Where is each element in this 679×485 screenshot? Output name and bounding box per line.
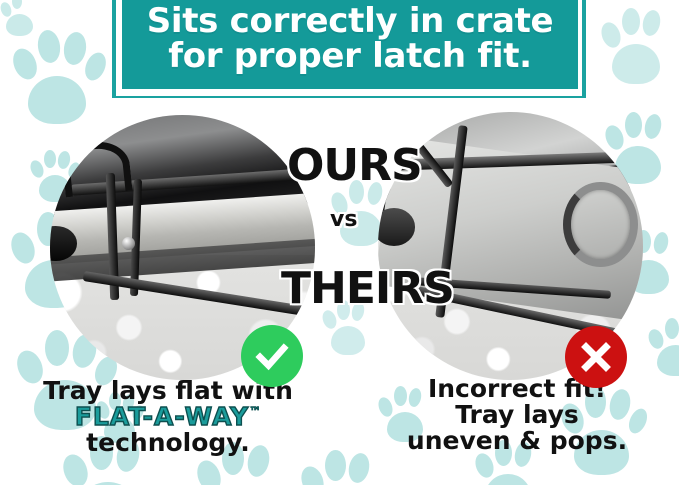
caption-ours-line3: technology. [8,430,328,456]
paw-print [300,450,384,485]
label-vs: vs [330,207,357,232]
caption-ours: Tray lays flat with FLAT-A-WAY™ technolo… [8,378,328,455]
caption-theirs-line2: Tray lays [372,402,662,428]
label-theirs: THEIRS [281,263,454,314]
cross-mark-icon [565,326,627,388]
trademark-symbol: ™ [249,404,261,418]
caption-theirs-line3: uneven & pops. [372,428,662,454]
paw-print [600,8,674,88]
paw-print [12,30,104,128]
banner-headline: Sits correctly in crate for proper latch… [122,0,578,89]
banner-headline-line2: for proper latch fit. [168,39,532,74]
caption-theirs: Incorrect fit! Tray lays uneven & pops. [372,376,662,453]
label-ours: OURS [287,140,422,191]
paw-print [0,0,40,38]
banner-headline-line1: Sits correctly in crate [147,4,554,39]
check-mark-icon [241,325,303,387]
infographic-canvas: Sits correctly in crate for proper latch… [0,0,679,485]
brand-name: FLAT-A-WAY [75,402,249,431]
flat-a-way-brandmark: FLAT-A-WAY™ [8,404,328,430]
paw-print [648,318,679,380]
caption-theirs-line1: Incorrect fit! [372,376,662,402]
